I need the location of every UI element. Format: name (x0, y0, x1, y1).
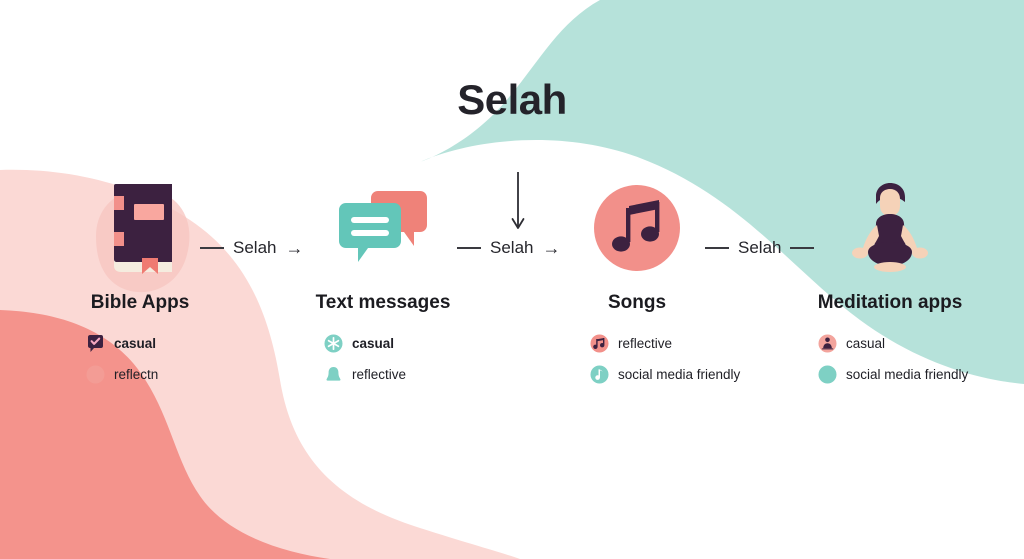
stage-meditation-apps: Meditation apps casual (800, 178, 980, 384)
meditation-salmon-icon (818, 334, 837, 353)
music-note-salmon-icon (590, 334, 609, 353)
tag-item[interactable]: reflectn (86, 365, 158, 384)
tag-list: casual reflective (300, 334, 466, 384)
tag-item[interactable]: casual (324, 334, 394, 353)
tag-item[interactable]: social media friendly (818, 365, 968, 384)
chat-bubbles-icon (300, 178, 466, 278)
stage-label: Text messages (300, 292, 466, 314)
tag-label: reflective (618, 336, 672, 351)
tag-label: casual (114, 336, 156, 351)
connector-label: Selah (490, 238, 533, 258)
tag-item[interactable]: casual (818, 334, 885, 353)
connector-label: Selah (738, 238, 781, 258)
tag-label: social media friendly (846, 367, 968, 382)
infographic-canvas: Selah Bible Apps (0, 0, 1024, 559)
tag-list: casual social media friendly (800, 334, 980, 384)
connector-dash (200, 247, 224, 249)
sparkle-circle-icon (324, 334, 343, 353)
tag-label: casual (352, 336, 394, 351)
connector-dash (705, 247, 729, 249)
tag-item[interactable]: social media friendly (590, 365, 740, 384)
stage-label: Meditation apps (800, 292, 980, 314)
meditation-person-icon (800, 178, 980, 278)
music-note-circle-icon (560, 178, 714, 278)
tag-label: social media friendly (618, 367, 740, 382)
stage-label: Bible Apps (60, 292, 220, 314)
music-note-teal-icon (590, 365, 609, 384)
arrow-down-icon (508, 172, 528, 234)
tag-list: reflective social media friendly (560, 334, 714, 384)
pink-circle-icon (86, 365, 105, 384)
stage-songs: Songs reflective (560, 178, 714, 384)
stage-label: Songs (560, 292, 714, 314)
connector-3: Selah (705, 238, 814, 258)
bell-icon (324, 365, 343, 384)
tag-item[interactable]: reflective (324, 365, 406, 384)
tag-label: reflectn (114, 367, 158, 382)
tag-label: reflective (352, 367, 406, 382)
check-bubble-icon (86, 334, 105, 353)
connector-2: Selah → (457, 238, 560, 258)
arrow-right-icon: → (542, 239, 560, 257)
stage-text-messages: Text messages casual (300, 178, 466, 384)
book-icon (60, 178, 220, 278)
stage-bible-apps: Bible Apps casual reflectn (60, 178, 220, 384)
tag-item[interactable]: casual (86, 334, 156, 353)
connector-dash (457, 247, 481, 249)
connector-label: Selah (233, 238, 276, 258)
tag-item[interactable]: reflective (590, 334, 672, 353)
page-title: Selah (0, 76, 1024, 124)
teal-circle-icon (818, 365, 837, 384)
connector-1: Selah → (200, 238, 303, 258)
tag-list: casual reflectn (60, 334, 220, 384)
tag-label: casual (846, 336, 885, 351)
